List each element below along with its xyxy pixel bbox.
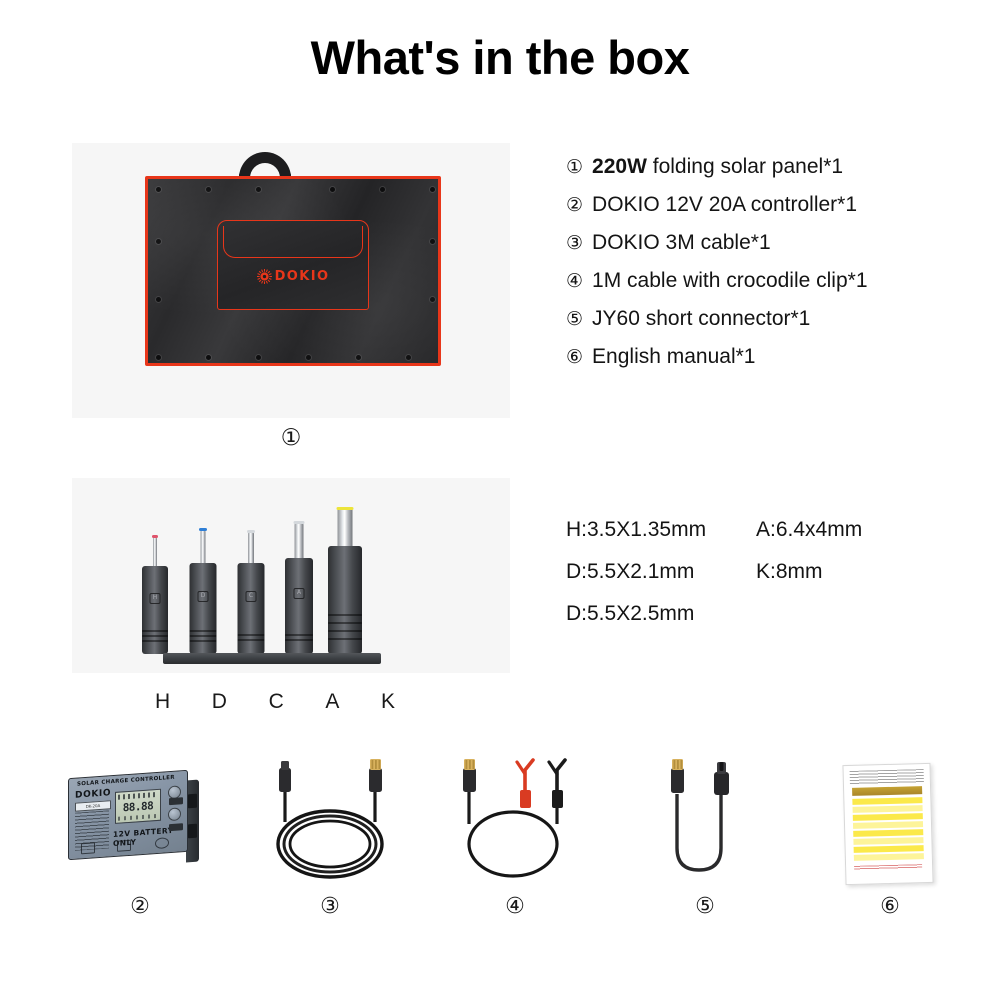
dimension-row-2: D:5.5X2.1mm K:8mm [566,560,966,584]
accessory-caption-4: ④ [425,894,605,919]
connector-tips-base [163,653,381,664]
connector-dimensions: H:3.5X1.35mm A:6.4x4mm D:5.5X2.1mm K:8mm… [566,518,966,644]
connector-letter-d: D [212,690,227,714]
accessory-jy60-connector: ⑤ [615,752,795,942]
item-number-3: ③ [566,234,583,253]
contents-item-6: ⑥ English manual*1 [566,345,986,369]
connector-letter-a: A [325,690,339,714]
connector-letter-h: H [155,690,170,714]
dimension-a: A:6.4x4mm [756,518,946,542]
item-5-text: JY60 short connector*1 [592,307,810,331]
controller-lcd-display: 88.88 [115,789,161,824]
item-3-text: DOKIO 3M cable*1 [592,231,771,255]
jy60-connector-image [615,752,795,892]
usb-port-1 [169,797,183,805]
dimension-d2: D:5.5X2.5mm [566,602,756,626]
item-number-4: ④ [566,272,583,291]
item-6-text: English manual*1 [592,345,755,369]
controller-button-bottom[interactable] [168,807,181,821]
contents-item-1: ① 220W folding solar panel*1 [566,155,986,179]
sunburst-icon [257,269,272,284]
dimension-row-3: D:5.5X2.5mm [566,602,966,626]
item-1-text: folding solar panel*1 [647,155,843,178]
accessories-row: SOLAR CHARGE CONTROLLER DOKIO DK-20A 88.… [0,752,1000,942]
manual-table-header [852,786,922,796]
dimension-blank [756,602,946,626]
contents-item-4: ④ 1M cable with crocodile clip*1 [566,269,986,293]
controller-title: SOLAR CHARGE CONTROLLER [77,775,175,788]
connector-letter-c: C [269,690,284,714]
box-contents-list: ① 220W folding solar panel*1 ② DOKIO 12V… [566,155,986,383]
manual-header-text [850,769,924,785]
accessory-caption-5: ⑤ [615,894,795,919]
controller-logo: DOKIO [75,788,111,801]
contents-item-3: ③ DOKIO 3M cable*1 [566,231,986,255]
crocodile-cable-image [425,752,605,892]
contents-item-5: ⑤ JY60 short connector*1 [566,307,986,331]
pocket-flap-trim [223,226,363,258]
item-4-text: 1M cable with crocodile clip*1 [592,269,867,293]
item-2-text: DOKIO 12V 20A controller*1 [592,193,857,217]
accessory-crocodile-cable: ④ [425,752,605,942]
solar-panel-caption: ① [72,425,510,451]
bag-front-pocket: DOKIO [217,220,369,310]
accessory-caption-2: ② [50,894,230,919]
connector-tips-image: H D C A [155,492,395,664]
accessory-controller: SOLAR CHARGE CONTROLLER DOKIO DK-20A 88.… [50,752,230,942]
dimension-k: K:8mm [756,560,946,584]
contents-item-2: ② DOKIO 12V 20A controller*1 [566,193,986,217]
item-number-2: ② [566,196,583,215]
item-number-6: ⑥ [566,348,583,367]
battery-icon [117,840,131,852]
dimension-h: H:3.5X1.35mm [566,518,756,542]
cable-3m-image [240,752,420,892]
usb-port-2 [169,823,183,831]
manual-image [800,752,980,892]
solar-panel-icon [81,842,95,854]
manual-sheet [842,763,933,885]
item-number-1: ① [566,158,583,177]
item-1-lead: 220W [592,155,647,178]
solar-panel-bag-image: DOKIO [145,168,441,390]
dimension-row-1: H:3.5X1.35mm A:6.4x4mm [566,518,966,542]
connector-letter-k: K [381,690,395,714]
item-number-5: ⑤ [566,310,583,329]
lcd-value: 88.88 [116,799,160,815]
page-title: What's in the box [0,30,1000,85]
bag-logo: DOKIO [218,269,368,284]
accessory-caption-6: ⑥ [800,894,980,919]
controller-image: SOLAR CHARGE CONTROLLER DOKIO DK-20A 88.… [50,752,230,892]
accessory-manual: ⑥ [800,752,980,942]
accessory-3m-cable: ③ [240,752,420,942]
connector-letters-row: H D C A K [155,690,395,714]
accessory-caption-3: ③ [240,894,420,919]
lamp-icon [155,837,169,849]
controller-face: SOLAR CHARGE CONTROLLER DOKIO DK-20A 88.… [68,770,188,860]
dimension-d1: D:5.5X2.1mm [566,560,756,584]
bag-logo-text: DOKIO [275,269,330,284]
